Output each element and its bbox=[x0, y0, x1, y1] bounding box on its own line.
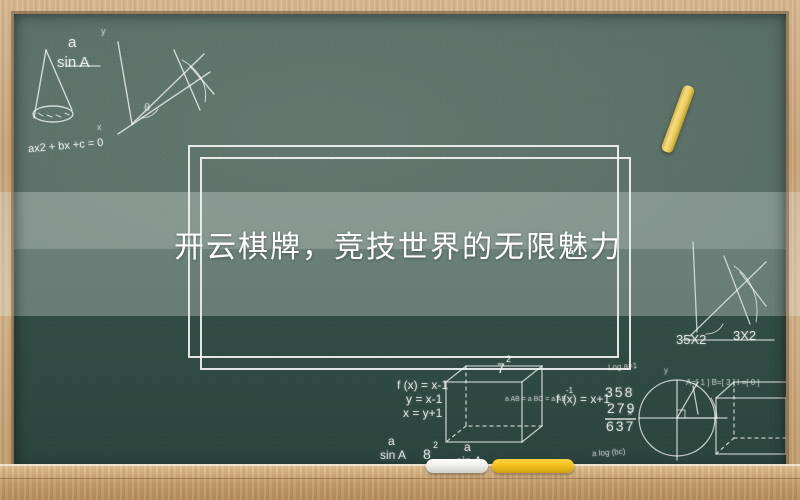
frame-inner-shadow bbox=[14, 14, 786, 470]
chalk-ledge bbox=[0, 464, 800, 500]
chalk-stick-white-ledge[interactable] bbox=[426, 459, 488, 473]
ledge-grain bbox=[0, 464, 800, 500]
ledge-highlight bbox=[0, 464, 800, 466]
ledge-seam bbox=[0, 478, 800, 479]
chalk-stick-yellow-ledge[interactable] bbox=[492, 459, 574, 473]
chalkboard-banner: a sin A y x θ ax2 + bx +c = 0 f (x) = x-… bbox=[0, 0, 800, 500]
